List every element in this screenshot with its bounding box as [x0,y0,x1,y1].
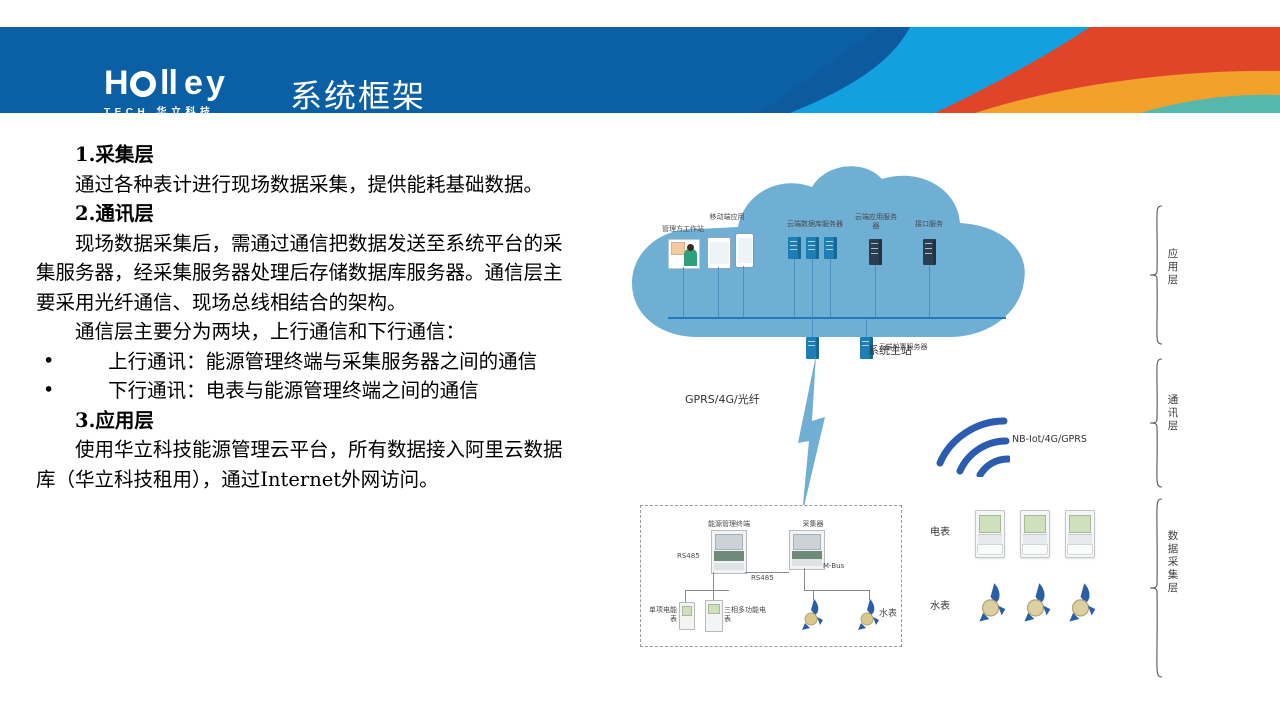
water-meter-icon-3 [978,582,1008,624]
water-meter-group-label: 水表 [930,602,950,611]
node-label-db-server: 云端数据库服务器 [770,220,860,229]
bullet-item-uplink: •上行通讯：能源管理终端与采集服务器之间的通信 [36,347,576,377]
layer-bracket-data-collection [1148,498,1164,678]
bus-label-rs485-2: RS485 [751,574,774,583]
electric-meter-icon-1 [975,510,1005,558]
layer-label-communication: 通讯层 [1166,394,1180,433]
workstation-icon [668,239,700,269]
three-phase-meter-icon [705,600,723,632]
layer-bracket-application [1148,205,1164,345]
section-heading-2: 2.通讯层 [36,199,576,229]
smartphone-icon [735,233,754,268]
stem-phone [743,266,744,317]
wire-meter-bus [685,590,729,591]
bullet-glyph: • [43,375,55,405]
header-swoosh-graphic [760,27,1280,113]
page-header: H ll e y TECH 华立科技 系统框架 [0,27,1280,113]
water-meter-label-field: 水表 [879,610,897,619]
section-heading-3: 3.应用层 [36,406,576,436]
stem-db2 [812,259,813,317]
layer-label-application: 应用层 [1166,248,1180,287]
node-label-workstation: 管理方工作站 [654,225,712,234]
stem-front2 [866,318,867,338]
logo-subtitle: TECH 华立科技 [104,103,274,113]
field-layer-box: 能源管理终端 采集器 RS485 RS485 M-Bus 单项电能表 三相多功能… [640,505,902,647]
water-meter-icon-5 [1068,582,1098,624]
wire-to-three-phase [713,590,714,600]
db-server-icon-1 [788,237,801,259]
lightning-bolt-icon [792,355,830,515]
single-phase-meter-icon [679,602,695,630]
stem-tablet [718,267,719,317]
tablet-icon [707,237,731,269]
body-text-column: 1.采集层 通过各种表计进行现场数据采集，提供能耗基础数据。 2.通讯层 现场数… [36,140,576,494]
layer-bracket-communication [1148,358,1164,488]
stem-workstation [683,267,684,317]
node-label-app-server: 云端应用服务器 [852,213,900,231]
bullet-item-downlink: •下行通讯：电表与能源管理终端之间的通信 [36,376,576,406]
water-meter-icon-1 [801,598,825,632]
collector-label: 采集器 [793,520,833,529]
uplink-label: GPRS/4G/光纤 [685,395,760,404]
water-meter-icon-2 [857,598,881,632]
bullet-glyph: • [43,346,55,376]
wire-to-single-phase [685,590,686,602]
layer-label-data-collection: 数据采集层 [1166,530,1180,595]
stem-db1 [794,259,795,317]
electric-meter-icon-3 [1065,510,1095,558]
water-meter-icon-4 [1023,582,1053,624]
bus-label-mbus: M-Bus [823,562,844,571]
stem-db3 [830,259,831,317]
db-server-icon-2 [806,237,819,259]
section-paragraph-2a: 现场数据采集后，需通过通信把数据发送至系统平台的采集服务器，经采集服务器处理后存… [36,229,576,318]
cloud-platform-graphic: 管理方工作站 移动端应用 云端数据库服务器 云端应用服务器 接口服务 [620,165,1040,365]
three-phase-meter-label: 三相多功能电表 [724,606,770,624]
section-heading-1: 1.采集层 [36,140,576,170]
stem-front1 [812,318,813,338]
db-server-icon-3 [824,237,837,259]
wifi-signal-icon [930,415,1010,477]
page-title: 系统框架 [290,71,426,113]
holley-logo: H ll e y TECH 华立科技 [104,67,274,113]
electric-meter-icon-2 [1020,510,1050,558]
wire-terminal-down [713,572,714,590]
interface-service-icon [923,239,936,265]
node-label-interface-service: 接口服务 [906,220,952,229]
bullet-text-uplink: 上行通讯：能源管理终端与采集服务器之间的通信 [108,350,537,373]
system-architecture-diagram: 管理方工作站 移动端应用 云端数据库服务器 云端应用服务器 接口服务 [600,130,1200,690]
wire-collector-down [804,568,805,590]
station-label: 系统主站 [868,346,912,355]
stem-app-server [875,265,876,317]
wireless-label: NB-Iot/4G/GPRS [1012,435,1087,444]
stem-interface [929,265,930,317]
section-paragraph-1: 通过各种表计进行现场数据采集，提供能耗基础数据。 [36,170,576,200]
logo-wordmark: H ll e y [104,67,274,100]
electric-meter-group-label: 电表 [930,528,950,537]
cloud-bus-line [668,317,1006,319]
energy-management-terminal-icon [711,530,747,574]
section-paragraph-2b: 通信层主要分为两块，上行通信和下行通信： [36,317,576,347]
bus-label-rs485: RS485 [677,552,700,561]
logo-o-ring [130,71,156,97]
wire-terminal-collector [745,572,789,573]
collector-icon [789,530,825,570]
terminal-label: 能源管理终端 [699,520,759,529]
bullet-text-downlink: 下行通讯：电表与能源管理终端之间的通信 [108,379,479,402]
node-label-mobile: 移动端应用 [702,213,752,222]
app-server-icon [869,239,882,265]
section-paragraph-3: 使用华立科技能源管理云平台，所有数据接入阿里云数据库（华立科技租用），通过Int… [36,435,576,494]
single-phase-meter-label: 单项电能表 [643,606,677,624]
